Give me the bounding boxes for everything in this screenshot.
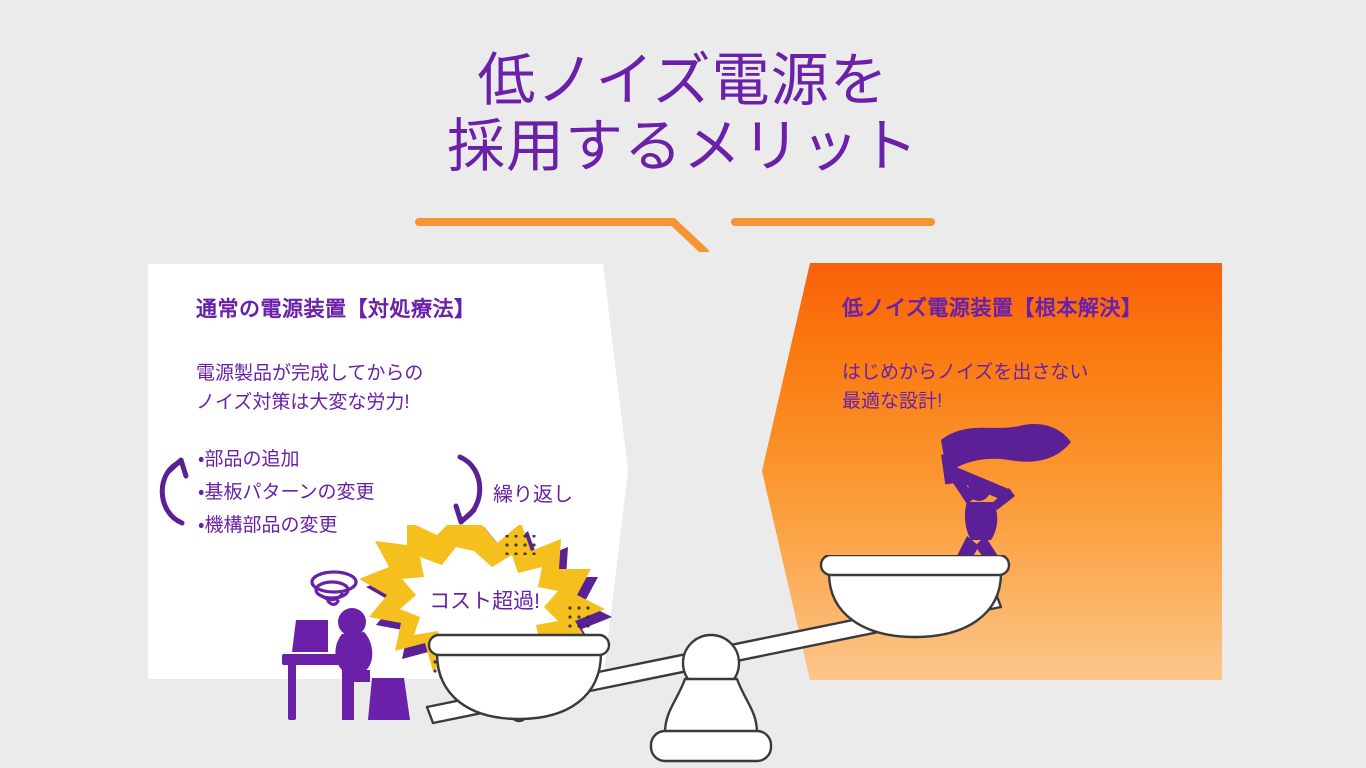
title-line-1: 低ノイズ電源を — [0, 48, 1366, 114]
rework-bullet-list: ・部品の追加 ・基板パターンの変更 ・機構部品の変更 — [198, 443, 375, 542]
list-item: ・基板パターンの変更 — [198, 476, 375, 509]
slide-canvas: 低ノイズ電源を 採用するメリット 通常の電源装置【対処療法】 電源製品が完成して… — [0, 0, 1366, 768]
title-line-2: 採用するメリット — [0, 114, 1366, 180]
repeat-label: 繰り返し — [493, 478, 573, 507]
right-body-line-1: はじめからノイズを出さない — [842, 362, 1088, 383]
right-panel-heading: 低ノイズ電源装置【根本解決】 — [842, 292, 1142, 322]
left-panel-body: 電源製品が完成してからの ノイズ対策は大変な労力! — [196, 359, 423, 417]
left-body-line-2: ノイズ対策は大変な労力! — [196, 392, 410, 413]
list-item: ・部品の追加 — [198, 443, 375, 476]
orange-divider-icon — [415, 200, 935, 252]
list-item: ・機構部品の変更 — [198, 509, 375, 542]
page-title: 低ノイズ電源を 採用するメリット — [0, 48, 1366, 180]
balance-scale-icon — [415, 555, 1035, 768]
right-panel-body: はじめからノイズを出さない 最適な設計! — [842, 358, 1088, 416]
right-body-line-2: 最適な設計! — [842, 391, 942, 412]
left-body-line-1: 電源製品が完成してからの — [196, 363, 423, 384]
left-panel-heading: 通常の電源装置【対処療法】 — [196, 293, 476, 323]
